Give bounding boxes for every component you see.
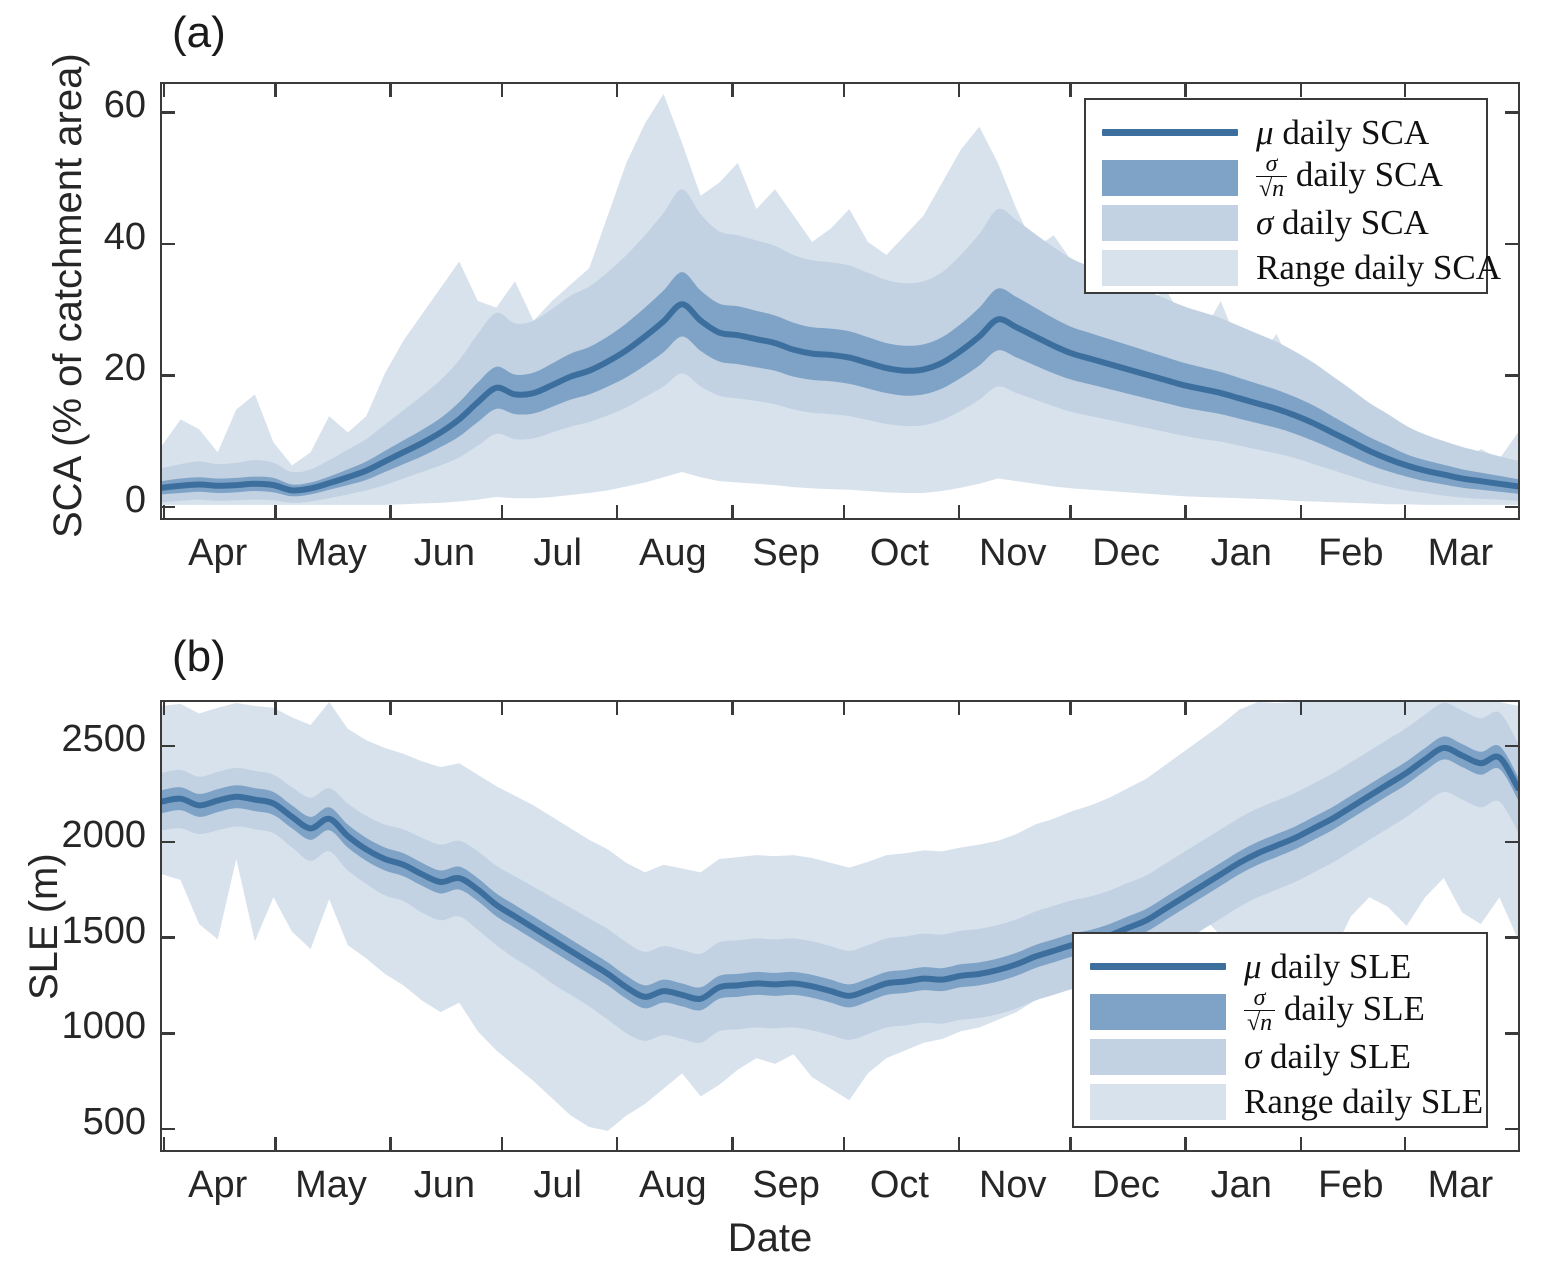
x-tick-top bbox=[389, 84, 392, 97]
x-tick-top bbox=[843, 702, 846, 715]
legend-patch-swatch bbox=[1090, 1039, 1226, 1075]
y-tick-label: 500 bbox=[10, 1101, 146, 1144]
x-tick bbox=[389, 505, 392, 518]
x-tick-label: Mar bbox=[1390, 1164, 1530, 1207]
legend-patch bbox=[1102, 205, 1238, 241]
y-tick-right bbox=[1505, 936, 1518, 939]
x-tick-top bbox=[843, 84, 846, 97]
x-tick bbox=[1404, 505, 1407, 518]
legend-label: μ daily SLE bbox=[1226, 947, 1411, 987]
x-tick bbox=[1300, 505, 1303, 518]
x-tick-top bbox=[1184, 84, 1187, 97]
x-tick-top bbox=[1300, 702, 1303, 715]
panel-b-xlabel: Date bbox=[660, 1216, 880, 1261]
y-tick bbox=[162, 841, 175, 844]
legend-label: σ daily SCA bbox=[1238, 203, 1429, 243]
panel-a-tag: (a) bbox=[172, 8, 226, 58]
x-tick-top bbox=[501, 702, 504, 715]
x-tick bbox=[501, 505, 504, 518]
legend-entry: σ daily SLE bbox=[1090, 1034, 1472, 1079]
legend-label: σ√n daily SLE bbox=[1226, 987, 1425, 1037]
figure-root: (a) SCA (% of catchment area) 0204060 Ap… bbox=[0, 0, 1542, 1279]
x-tick-top bbox=[163, 702, 166, 715]
y-tick-label: 20 bbox=[10, 347, 146, 390]
x-tick-top bbox=[274, 702, 277, 715]
y-tick bbox=[162, 936, 175, 939]
x-tick-top bbox=[1404, 84, 1407, 97]
panel-a-legend: μ daily SCAσ√n daily SCAσ daily SCARange… bbox=[1084, 98, 1488, 294]
legend-patch bbox=[1102, 250, 1238, 286]
y-tick-label: 2500 bbox=[10, 718, 146, 761]
x-tick bbox=[389, 1137, 392, 1150]
y-tick-right bbox=[1505, 111, 1518, 114]
x-tick-top bbox=[1069, 84, 1072, 97]
legend-label: σ daily SLE bbox=[1226, 1037, 1411, 1077]
y-tick-label: 1500 bbox=[10, 910, 146, 953]
y-tick-label: 60 bbox=[10, 84, 146, 127]
legend-label: σ√n daily SCA bbox=[1238, 153, 1443, 203]
legend-line-swatch bbox=[1102, 129, 1238, 136]
y-tick-right bbox=[1505, 243, 1518, 246]
y-tick-right bbox=[1505, 506, 1518, 509]
x-tick-top bbox=[1404, 702, 1407, 715]
legend-label: Range daily SCA bbox=[1238, 248, 1501, 288]
legend-patch bbox=[1090, 1039, 1226, 1075]
panel-b-legend: μ daily SLEσ√n daily SLEσ daily SLERange… bbox=[1072, 932, 1488, 1128]
legend-label: μ daily SCA bbox=[1238, 113, 1429, 153]
x-tick bbox=[163, 1137, 166, 1150]
y-tick-label: 40 bbox=[10, 216, 146, 259]
legend-entry: σ√n daily SLE bbox=[1090, 989, 1472, 1034]
legend-label: Range daily SLE bbox=[1226, 1082, 1483, 1122]
legend-patch bbox=[1090, 994, 1226, 1030]
legend-line bbox=[1102, 129, 1238, 136]
x-tick bbox=[958, 1137, 961, 1150]
y-tick bbox=[162, 374, 175, 377]
legend-patch-swatch bbox=[1102, 205, 1238, 241]
y-tick bbox=[162, 243, 175, 246]
y-tick-label: 2000 bbox=[10, 814, 146, 857]
legend-patch-swatch bbox=[1090, 994, 1226, 1030]
y-tick-right bbox=[1505, 374, 1518, 377]
legend-patch bbox=[1090, 1084, 1226, 1120]
x-tick-top bbox=[616, 84, 619, 97]
x-tick-top bbox=[958, 84, 961, 97]
legend-line-swatch bbox=[1090, 963, 1226, 970]
x-tick bbox=[958, 505, 961, 518]
x-tick bbox=[1069, 505, 1072, 518]
x-tick-top bbox=[616, 702, 619, 715]
panel-b-tag: (b) bbox=[172, 632, 226, 682]
y-tick-right bbox=[1505, 1128, 1518, 1131]
legend-entry: Range daily SLE bbox=[1090, 1079, 1472, 1124]
legend-entry: μ daily SLE bbox=[1090, 944, 1472, 989]
y-tick bbox=[162, 745, 175, 748]
y-tick-right bbox=[1505, 841, 1518, 844]
legend-entry: σ√n daily SCA bbox=[1102, 155, 1472, 200]
y-tick bbox=[162, 111, 175, 114]
x-tick-top bbox=[731, 84, 734, 97]
x-tick-top bbox=[1184, 702, 1187, 715]
y-tick bbox=[162, 1128, 175, 1131]
x-tick bbox=[1184, 505, 1187, 518]
y-tick-label: 1000 bbox=[10, 1005, 146, 1048]
x-tick bbox=[1404, 1137, 1407, 1150]
x-tick bbox=[501, 1137, 504, 1150]
x-tick bbox=[731, 505, 734, 518]
x-tick bbox=[616, 505, 619, 518]
x-tick-top bbox=[501, 84, 504, 97]
legend-patch bbox=[1102, 160, 1238, 196]
x-tick bbox=[731, 1137, 734, 1150]
legend-entry: μ daily SCA bbox=[1102, 110, 1472, 155]
y-tick-right bbox=[1505, 745, 1518, 748]
legend-patch-swatch bbox=[1102, 250, 1238, 286]
x-tick-top bbox=[1069, 702, 1072, 715]
x-tick-top bbox=[958, 702, 961, 715]
x-tick bbox=[274, 1137, 277, 1150]
x-tick bbox=[1069, 1137, 1072, 1150]
x-tick bbox=[1300, 1137, 1303, 1150]
legend-entry: Range daily SCA bbox=[1102, 245, 1472, 290]
x-tick bbox=[1184, 1137, 1187, 1150]
x-tick-top bbox=[389, 702, 392, 715]
x-tick-top bbox=[731, 702, 734, 715]
legend-patch-swatch bbox=[1102, 160, 1238, 196]
x-tick-top bbox=[1300, 84, 1303, 97]
y-tick bbox=[162, 1032, 175, 1035]
legend-patch-swatch bbox=[1090, 1084, 1226, 1120]
x-tick bbox=[274, 505, 277, 518]
y-tick-label: 0 bbox=[10, 479, 146, 522]
x-tick-label: Mar bbox=[1390, 532, 1530, 575]
x-tick bbox=[163, 505, 166, 518]
legend-line bbox=[1090, 963, 1226, 970]
x-tick-top bbox=[163, 84, 166, 97]
x-tick-top bbox=[274, 84, 277, 97]
x-tick bbox=[843, 1137, 846, 1150]
y-tick-right bbox=[1505, 1032, 1518, 1035]
x-tick bbox=[843, 505, 846, 518]
legend-entry: σ daily SCA bbox=[1102, 200, 1472, 245]
x-tick bbox=[616, 1137, 619, 1150]
